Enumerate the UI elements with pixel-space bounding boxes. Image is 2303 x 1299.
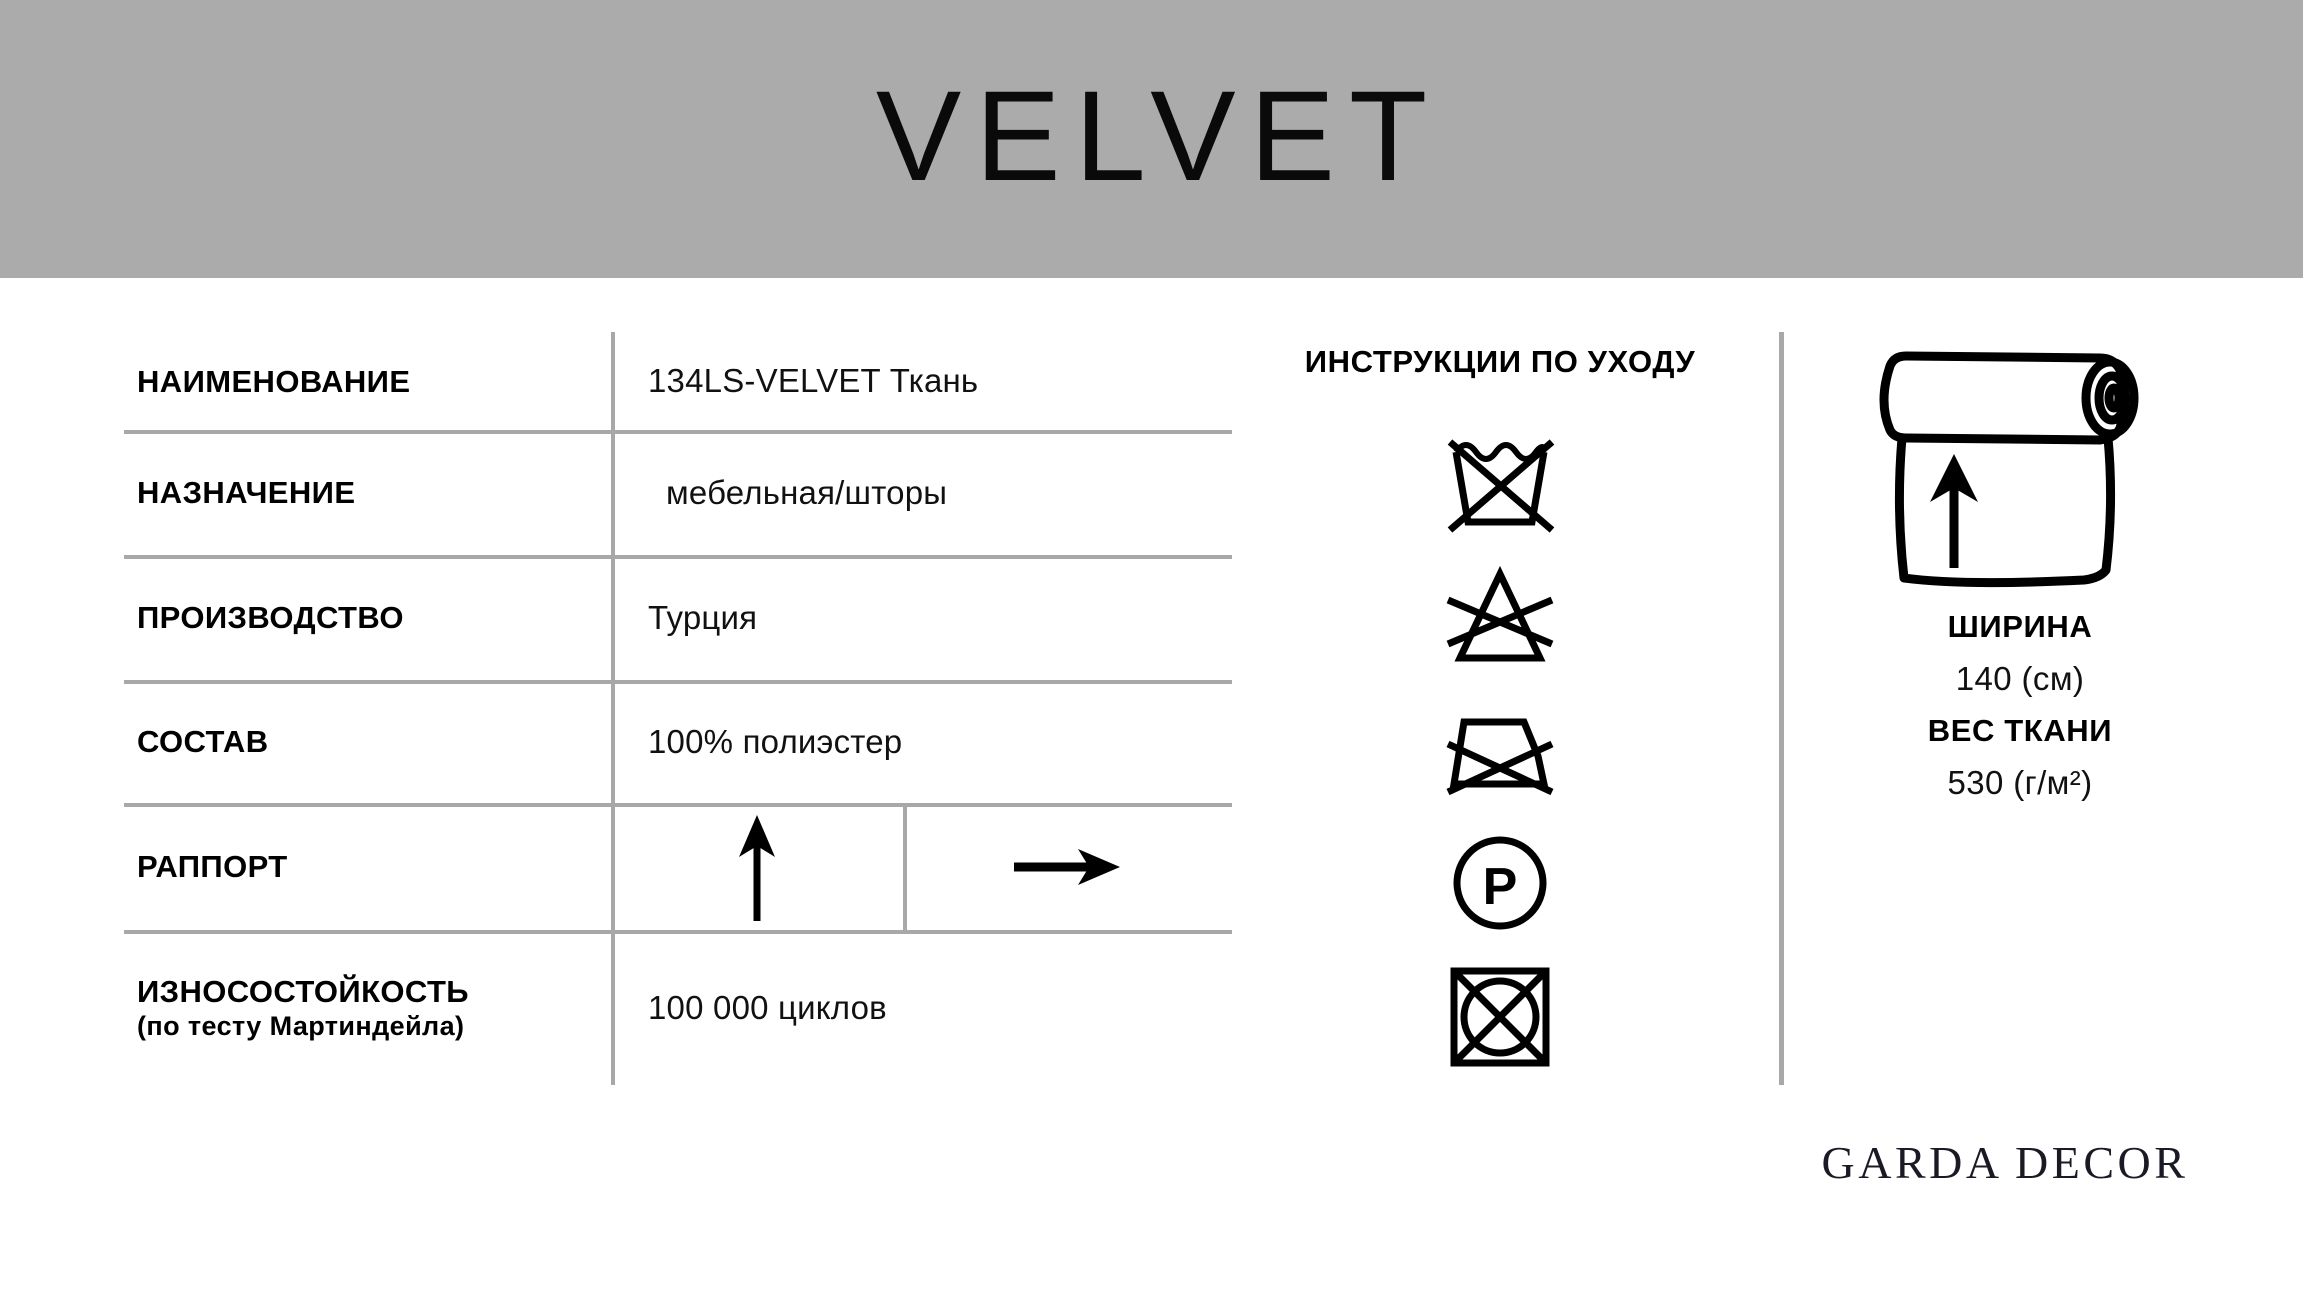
spec-label: ИЗНОСОСТОЙКОСТЬ (по тесту Мартиндейла) [124, 973, 611, 1043]
care-instructions-title: ИНСТРУКЦИИ ПО УХОДУ [1240, 344, 1760, 380]
table-row: ПРОИЗВОДСТВО Турция [124, 555, 1232, 680]
fabric-roll-icon [1862, 336, 2182, 588]
care-symbol-item: P [1240, 816, 1760, 950]
spec-value: 134LS-VELVET Ткань [611, 361, 1232, 401]
brand-logo: GARDA DECOR [1795, 1136, 2215, 1189]
fabric-spec-card: VELVET НАИМЕНОВАНИЕ 134LS-VELVET Ткань Н… [0, 0, 2303, 1299]
width-label: ШИРИНА [1800, 604, 2240, 650]
spec-label: СОСТАВ [124, 723, 611, 760]
spec-value: мебельная/шторы [611, 473, 1232, 513]
spec-value: 100% полиэстер [611, 722, 1232, 762]
spec-label-main: ИЗНОСОСТОЙКОСТЬ [137, 974, 469, 1009]
table-row: СОСТАВ 100% полиэстер [124, 680, 1232, 803]
table-row: НАЗНАЧЕНИЕ мебельная/шторы [124, 430, 1232, 555]
svg-text:P: P [1483, 858, 1518, 916]
spec-value: Турция [611, 598, 1232, 638]
width-value: 140 (см) [1800, 650, 2240, 708]
spec-value: 100 000 циклов [611, 988, 1232, 1028]
rapport-vertical-cell [611, 803, 903, 930]
no-bleach-icon [1434, 560, 1566, 670]
fabric-dimensions-section: ШИРИНА 140 (см) ВЕС ТКАНИ 530 (г/м²) [1800, 332, 2240, 1085]
page-title: VELVET [0, 62, 2303, 212]
arrow-up-icon [729, 813, 785, 921]
table-row: ИЗНОСОСТОЙКОСТЬ (по тесту Мартиндейла) 1… [124, 930, 1232, 1085]
dimensions-text-block: ШИРИНА 140 (см) ВЕС ТКАНИ 530 (г/м²) [1800, 604, 2240, 812]
dry-clean-p-icon: P [1434, 828, 1566, 938]
section-divider-vertical [1779, 332, 1784, 1085]
no-iron-icon [1434, 694, 1566, 804]
care-instructions-section: ИНСТРУКЦИИ ПО УХОДУ [1240, 332, 1760, 1085]
no-tumble-dry-icon [1434, 962, 1566, 1072]
care-symbol-item [1240, 950, 1760, 1084]
care-symbol-item [1240, 682, 1760, 816]
specification-table: НАИМЕНОВАНИЕ 134LS-VELVET Ткань НАЗНАЧЕН… [124, 332, 1232, 1085]
care-symbol-item [1240, 548, 1760, 682]
care-symbol-item [1240, 414, 1760, 548]
spec-label: ПРОИЗВОДСТВО [124, 599, 611, 636]
spec-label: РАППОРТ [124, 848, 611, 885]
arrow-up-icon [1930, 454, 1978, 568]
spec-label-sub: (по тесту Мартиндейла) [137, 1010, 599, 1043]
table-row: НАИМЕНОВАНИЕ 134LS-VELVET Ткань [124, 332, 1232, 430]
arrow-right-icon [1014, 839, 1122, 895]
no-machine-wash-icon [1434, 426, 1566, 536]
rapport-horizontal-cell [903, 803, 1232, 930]
spec-label: НАИМЕНОВАНИЕ [124, 363, 611, 400]
spec-label: НАЗНАЧЕНИЕ [124, 474, 611, 511]
weight-label: ВЕС ТКАНИ [1800, 708, 2240, 754]
table-row: РАППОРТ [124, 803, 1232, 930]
care-symbols-list: P [1240, 414, 1760, 1084]
weight-value: 530 (г/м²) [1800, 754, 2240, 812]
